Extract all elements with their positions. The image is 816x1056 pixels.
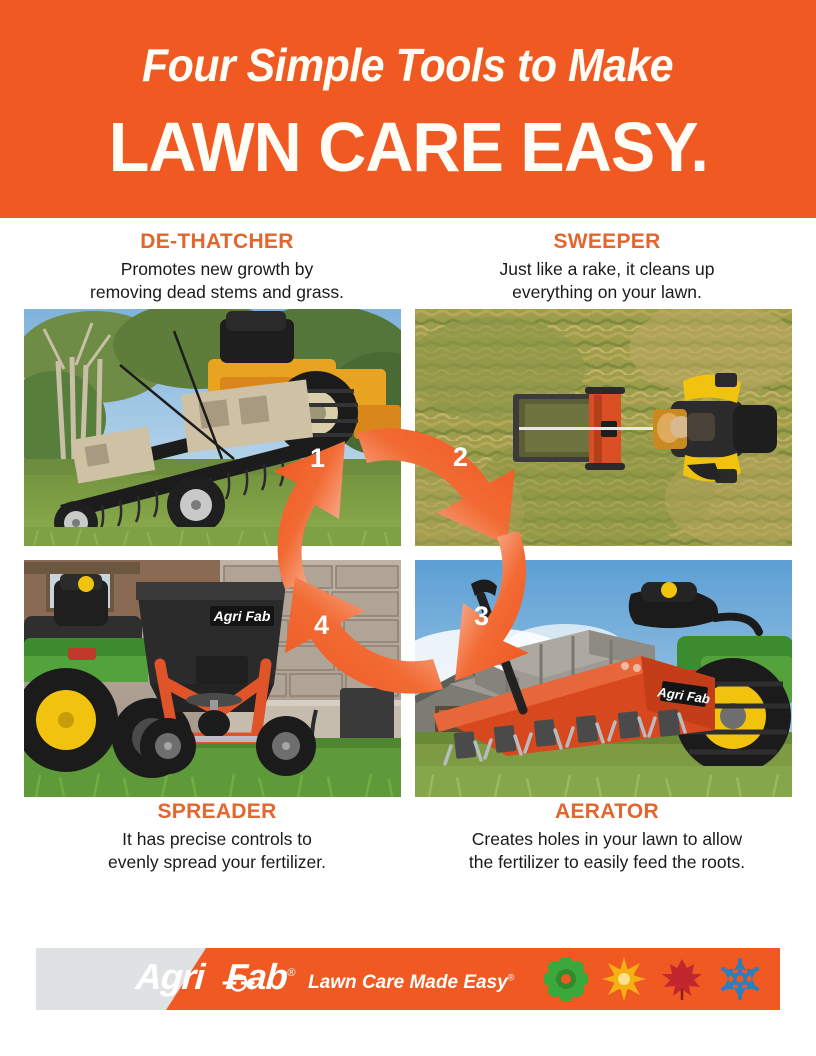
header-banner: Four Simple Tools to Make LAWN CARE EASY…	[0, 0, 816, 218]
season-icons-group	[544, 957, 762, 1001]
caption-title-aerator: AERATOR	[412, 800, 802, 824]
infographic-page: Four Simple Tools to Make LAWN CARE EASY…	[0, 0, 816, 1056]
logo-tagline-text: Lawn Care Made Easy	[308, 972, 508, 993]
caption-spreader: SPREADER It has precise controls to even…	[22, 800, 412, 874]
caption-title-sweeper: SWEEPER	[412, 230, 802, 254]
caption-desc-line: Creates holes in your lawn to allow	[412, 828, 802, 851]
photo-aerator: Agri Fab	[415, 560, 792, 797]
logo-registered-mark: ®	[287, 967, 295, 979]
photo-spreader: Agri Fab	[24, 560, 401, 797]
spring-flower-icon	[544, 957, 588, 1001]
photo-sweeper	[415, 309, 792, 546]
caption-desc-line: removing dead stems and grass.	[22, 281, 412, 304]
footer-bar: Agri--Fab® Lawn Care Made Easy®	[36, 948, 780, 1010]
svg-text:Agri Fab: Agri Fab	[213, 608, 271, 624]
logo-wordmark: Agri--Fab®	[135, 959, 296, 995]
caption-sweeper: SWEEPER Just like a rake, it cleans up e…	[412, 230, 802, 304]
agri-fab-logo: Agri--Fab® Lawn Care Made Easy®	[136, 959, 514, 995]
winter-snowflake-icon	[718, 957, 762, 1001]
logo-word-agri: Agri	[135, 956, 206, 997]
tagline-registered-mark: ®	[508, 972, 515, 982]
caption-desc-sweeper: Just like a rake, it cleans up everythin…	[412, 258, 802, 304]
caption-dethatcher: DE-THATCHER Promotes new growth by remov…	[22, 230, 412, 304]
header-title: LAWN CARE EASY.	[108, 112, 707, 182]
caption-desc-line: Promotes new growth by	[22, 258, 412, 281]
caption-desc-line: Just like a rake, it cleans up	[412, 258, 802, 281]
caption-aerator: AERATOR Creates holes in your lawn to al…	[412, 800, 802, 874]
caption-desc-aerator: Creates holes in your lawn to allow the …	[412, 828, 802, 874]
caption-desc-dethatcher: Promotes new growth by removing dead ste…	[22, 258, 412, 304]
caption-title-dethatcher: DE-THATCHER	[22, 230, 412, 254]
autumn-leaf-icon	[660, 957, 704, 1001]
caption-desc-line: It has precise controls to	[22, 828, 412, 851]
caption-desc-line: evenly spread your fertilizer.	[22, 851, 412, 874]
logo-tagline: Lawn Care Made Easy®	[308, 963, 514, 992]
photo-dethatcher	[24, 309, 401, 546]
caption-title-spreader: SPREADER	[22, 800, 412, 824]
caption-desc-spreader: It has precise controls to evenly spread…	[22, 828, 412, 874]
wheel-axle-icon	[221, 973, 256, 993]
caption-desc-line: the fertilizer to easily feed the roots.	[412, 851, 802, 874]
caption-desc-line: everything on your lawn.	[412, 281, 802, 304]
summer-sun-icon	[602, 957, 646, 1001]
header-subtitle: Four Simple Tools to Make	[142, 42, 673, 88]
